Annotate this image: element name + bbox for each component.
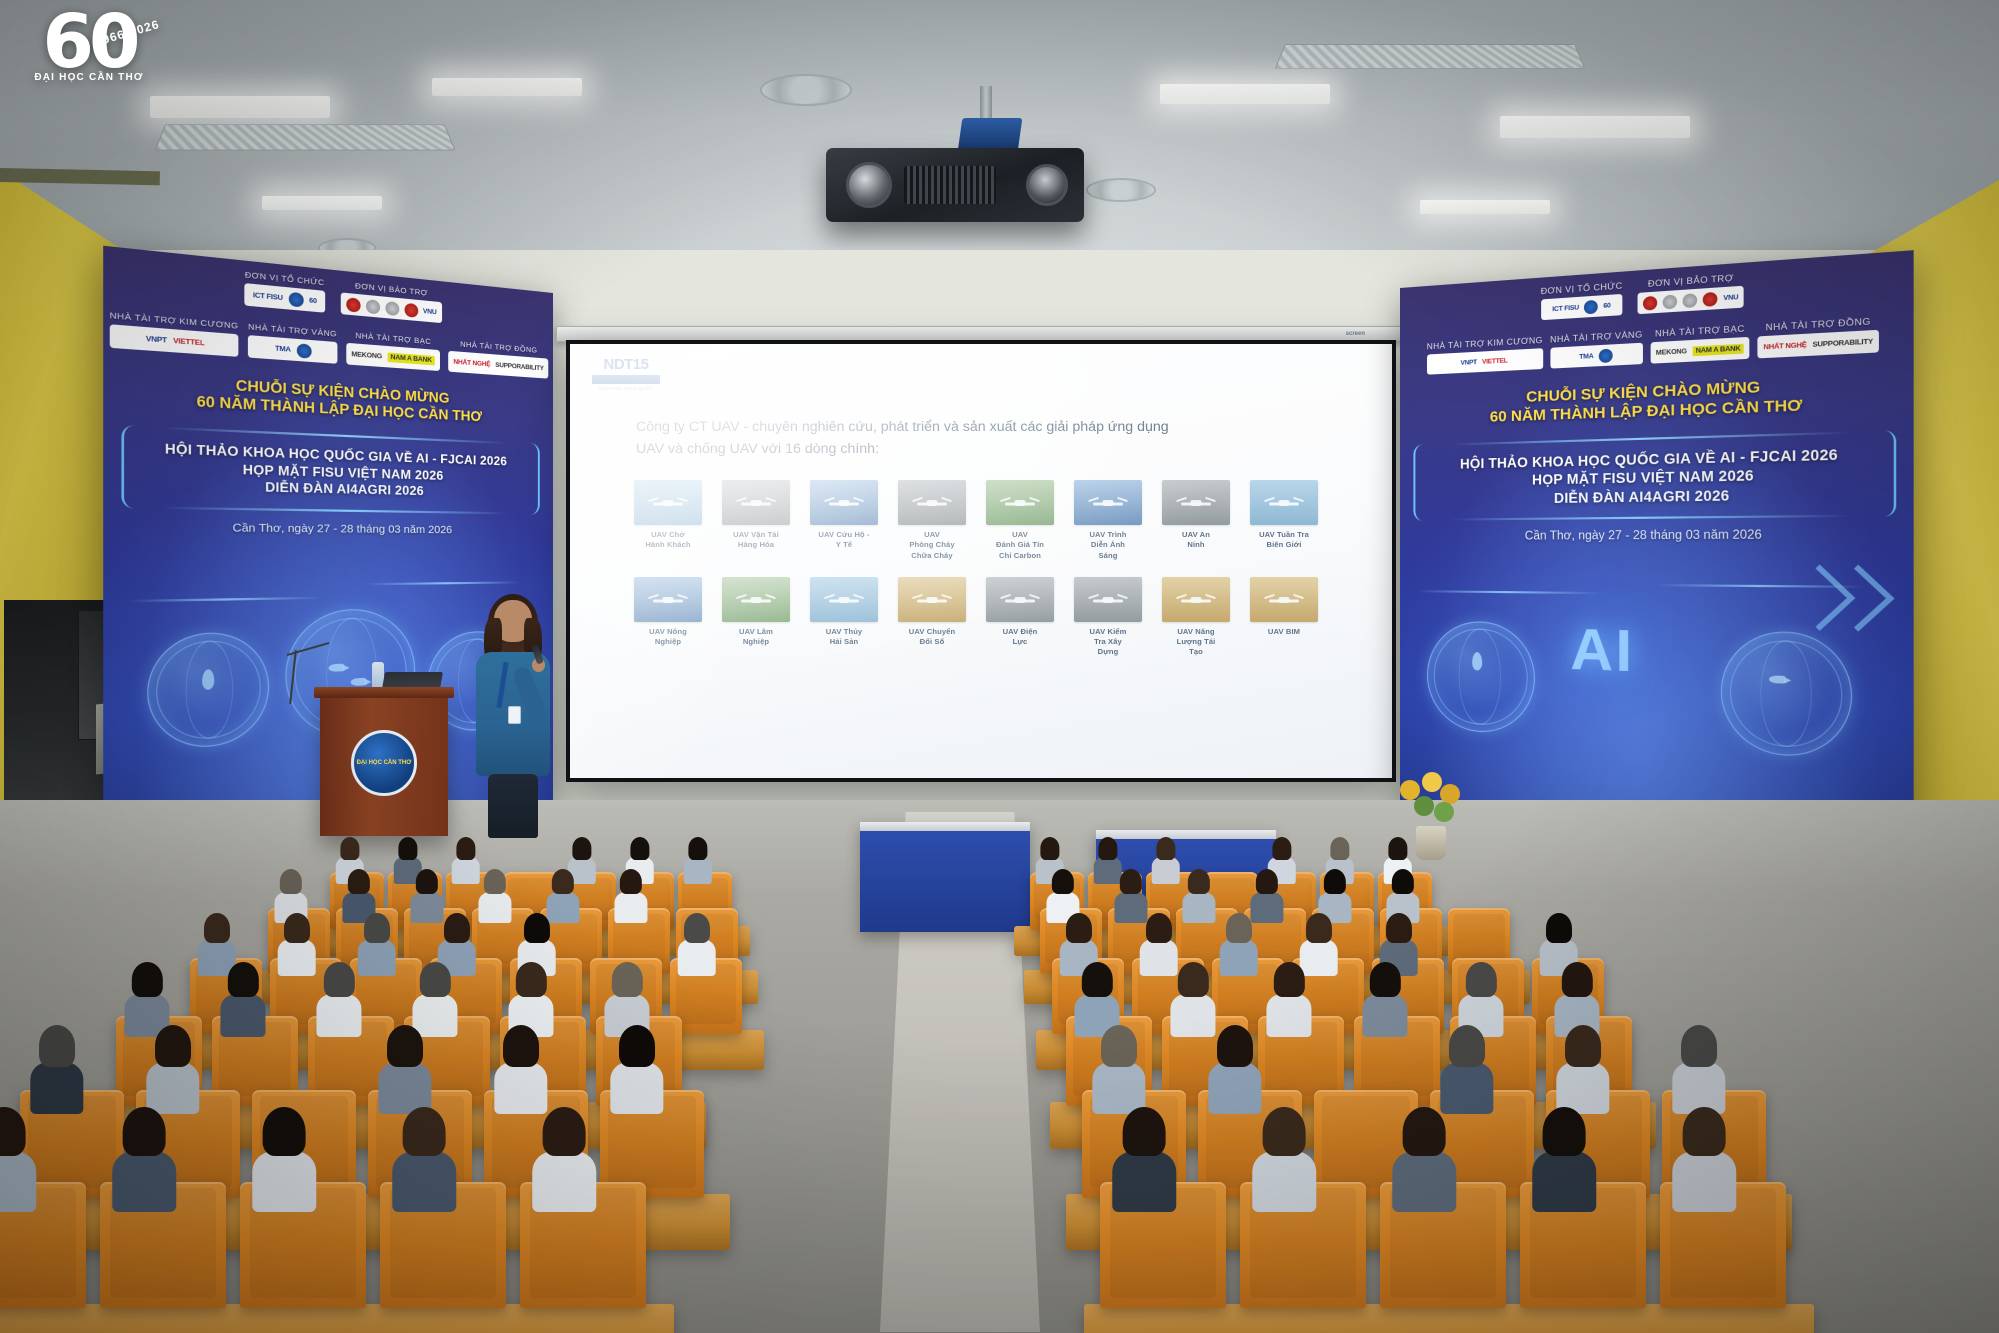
audience-hair <box>1330 837 1349 859</box>
uav-category-cell: UAV Cứu Hộ -Y Tế <box>802 480 886 551</box>
audience-hair <box>398 837 417 859</box>
uav-label-line: UAV Kiểm <box>1066 627 1150 637</box>
uav-label-line: Hàng Hóa <box>714 540 798 550</box>
fish-icon <box>1769 675 1785 683</box>
uav-label-line: Chỉ Carbon <box>978 551 1062 561</box>
audience-member <box>1219 911 1258 978</box>
uav-thumbnail <box>1250 480 1318 525</box>
uav-category-label: UAVĐánh Giá TínChỉ Carbon <box>978 530 1062 561</box>
audience-member <box>614 867 647 925</box>
audience-member <box>113 1104 176 1214</box>
logo-institution-name: ĐẠI HỌC CẦN THƠ <box>16 72 162 83</box>
uav-label-line: UAV Nông <box>626 627 710 637</box>
logo-vnu: VNU <box>1723 293 1738 302</box>
projector-secondary-lens-icon <box>1026 164 1068 206</box>
audience-member <box>1533 1104 1596 1214</box>
uav-category-cell: UAVĐánh Giá TínChỉ Carbon <box>978 480 1062 561</box>
uav-row-1: UAV ChởHành KháchUAV Vận TảiHàng HóaUAV … <box>626 480 1356 561</box>
logo-vnpt: VNPT <box>1461 358 1477 366</box>
audience-hair <box>1120 869 1142 895</box>
chevron-decor-icon <box>1822 565 1894 632</box>
audience-shoulders <box>1113 1151 1176 1212</box>
audience-hair <box>324 962 354 997</box>
audience-hair <box>403 1107 446 1157</box>
bronze-sponsor-group: NHÀ TÀI TRỢ ĐỒNG NHẤT NGHỆ SUPPORABILITY <box>1758 315 1880 358</box>
audience-hair <box>1145 913 1171 943</box>
decor-line <box>129 597 322 602</box>
drone-body-icon <box>751 597 762 603</box>
drone-body-icon <box>663 597 674 603</box>
logo-ict-fisu: ICT FISU <box>1552 304 1579 313</box>
podium-top-surface <box>314 687 454 698</box>
decor-line <box>366 581 520 585</box>
audience-hair <box>1466 962 1496 997</box>
logo-vinasa-icon <box>1703 291 1718 306</box>
drone-body-icon <box>1103 597 1114 603</box>
logo-nhatnghe: NHẤT NGHỆ <box>1763 341 1806 351</box>
ceiling-round-vent <box>1086 178 1156 202</box>
logo-supporability: SUPPORABILITY <box>495 361 543 372</box>
slide-lead-text: Công ty CT UAV - chuyên nghiên cứu, phát… <box>636 416 1338 460</box>
silver-logos: MEKONG NAM A BANK <box>1650 337 1749 364</box>
audience-hair <box>688 837 707 859</box>
audience-member <box>1092 1023 1145 1116</box>
audience-hair <box>484 869 506 895</box>
uav-category-label: UAV Vận TảiHàng Hóa <box>714 530 798 551</box>
organizer-group: ĐƠN VỊ TỔ CHỨC ICT FISU 60 <box>1541 280 1623 320</box>
uav-thumbnail <box>810 480 878 525</box>
logo-nhatnghe: NHẤT NGHỆ <box>453 358 490 368</box>
audience-shoulders <box>1151 857 1180 884</box>
ceiling-light-panel <box>1500 116 1690 138</box>
audience-hair <box>1385 913 1411 943</box>
ceiling-round-vent <box>760 74 852 106</box>
projection-screen-frame: NDT15 NGÀY HỘI TOÀN QUỐC Công ty CT UAV … <box>566 340 1396 782</box>
audience-member <box>1267 960 1312 1038</box>
audience-member <box>683 836 712 886</box>
audience-shoulders <box>610 1062 663 1113</box>
logo-vnu: VNU <box>423 307 437 316</box>
audience-hair <box>620 869 642 895</box>
uav-category-cell: UAV LâmNghiệp <box>714 577 798 648</box>
flower-bloom <box>1434 802 1454 822</box>
uav-label-line: UAV Tuần Tra <box>1242 530 1326 540</box>
uav-label-line: Nghiệp <box>714 637 798 647</box>
gold-label: NHÀ TÀI TRỢ VÀNG <box>1550 329 1643 345</box>
globe-graphic <box>1427 621 1535 735</box>
gold-sponsor-group: NHÀ TÀI TRỢ VÀNG TMA <box>1550 329 1643 369</box>
audience-hair <box>543 1107 586 1157</box>
uav-label-line: UAV Vận Tải <box>714 530 798 540</box>
audience-shoulders <box>451 857 480 884</box>
ceiling-light-panel <box>150 96 330 118</box>
drone-body-icon <box>927 500 938 506</box>
uav-row-2: UAV NôngNghiệpUAV LâmNghiệpUAV ThủyHải S… <box>626 577 1356 658</box>
audience-hair <box>1562 962 1592 997</box>
audience-hair <box>348 869 370 895</box>
audience-shoulders <box>614 892 647 924</box>
audience-hair <box>456 837 475 859</box>
audience-shoulders <box>1219 939 1258 976</box>
gold-sponsor-group: NHÀ TÀI TRỢ VÀNG TMA <box>248 322 337 364</box>
logo-vnpt: VNPT <box>146 335 167 345</box>
audience-hair <box>1274 962 1304 997</box>
drone-body-icon <box>1191 500 1202 506</box>
drone-body-icon <box>1015 597 1026 603</box>
logo-namabank: NAM A BANK <box>387 352 435 365</box>
uav-thumbnail <box>1250 577 1318 622</box>
logo-org-icon <box>1663 294 1677 309</box>
uav-label-line: Đổi Số <box>890 637 974 647</box>
event-banner-right: ĐƠN VỊ TỔ CHỨC ICT FISU 60 ĐƠN VỊ BẢO TR… <box>1400 250 1914 856</box>
audience-member <box>1113 1104 1176 1214</box>
conference-date: Cần Thơ, ngày 27 - 28 tháng 03 năm 2026 <box>1400 528 1914 543</box>
vase <box>1416 826 1446 860</box>
audience-shoulders <box>0 1151 36 1212</box>
leaf-icon <box>1472 652 1482 671</box>
audience-member <box>378 1023 431 1116</box>
logo-tma: TMA <box>1579 352 1593 360</box>
audience-shoulders <box>1363 994 1408 1037</box>
patron-group: ĐƠN VỊ BẢO TRỢ VNU <box>340 279 441 323</box>
audience-member <box>533 1104 596 1214</box>
drone-body-icon <box>839 597 850 603</box>
uav-thumbnail <box>986 480 1054 525</box>
audience-hair <box>1543 1107 1586 1157</box>
uav-category-label: UAV ChuyểnĐổi Số <box>890 627 974 648</box>
decor-line <box>1656 584 1864 588</box>
uav-category-cell: UAV BIM <box>1242 577 1326 637</box>
logo-org-icon <box>365 299 379 314</box>
audience-hair <box>1388 837 1407 859</box>
audience-hair <box>516 962 546 997</box>
audience-member <box>30 1023 83 1116</box>
audience-hair <box>1449 1025 1485 1067</box>
uav-category-cell: UAV ChởHành Khách <box>626 480 710 551</box>
audience-hair <box>1178 962 1208 997</box>
audience-hair <box>1156 837 1175 859</box>
diamond-logos: VNPT VIETTEL <box>1427 348 1543 375</box>
uav-label-line: Hải Sản <box>802 637 886 647</box>
audience-hair <box>1263 1107 1306 1157</box>
ceiling-light-panel <box>262 196 382 210</box>
logo-assoc-icon <box>385 300 399 315</box>
audience-hair <box>228 962 258 997</box>
audience-hair <box>1082 962 1112 997</box>
uav-label-line: Hành Khách <box>626 540 710 550</box>
uav-category-label: UAV ĐiệnLực <box>978 627 1062 648</box>
audience-shoulders <box>683 857 712 884</box>
presenter-legs <box>488 774 538 838</box>
audience-shoulders <box>1393 1151 1456 1212</box>
audience-shoulders <box>1182 892 1215 924</box>
audience-hair <box>416 869 438 895</box>
uav-category-cell: UAV TrìnhDiễn ÁnhSáng <box>1066 480 1150 561</box>
drone-body-icon <box>751 500 762 506</box>
organizer-logos: ICT FISU 60 <box>1541 294 1623 320</box>
audience-member <box>610 1023 663 1116</box>
logo-number-60: 60 <box>16 8 162 76</box>
logo-60: 60 <box>1603 302 1610 310</box>
uav-thumbnail <box>722 577 790 622</box>
audience-hair <box>1098 837 1117 859</box>
logo-ctu-icon <box>289 291 304 307</box>
audience-member <box>357 911 396 978</box>
bronze-logos: NHẤT NGHỆ SUPPORABILITY <box>448 351 548 379</box>
audience-hair <box>552 869 574 895</box>
audience-hair <box>1101 1025 1137 1067</box>
audience-member <box>1440 1023 1493 1116</box>
uav-label-line: UAV Năng <box>1154 627 1238 637</box>
audience-hair <box>1040 837 1059 859</box>
audience-hair <box>280 869 302 895</box>
uav-category-label: UAV ChởHành Khách <box>626 530 710 551</box>
gold-logos: TMA <box>248 335 337 364</box>
chevron-decor-icon <box>1785 565 1856 631</box>
audience-member <box>1556 1023 1609 1116</box>
ndt15-logo: NDT15 NGÀY HỘI TOÀN QUỐC <box>592 356 660 391</box>
audience-hair <box>283 913 309 943</box>
audience-shoulders <box>393 1151 456 1212</box>
projection-screen: NDT15 NGÀY HỘI TOÀN QUỐC Công ty CT UAV … <box>570 344 1392 778</box>
organizer-group: ĐƠN VỊ TỔ CHỨC ICT FISU 60 <box>245 270 325 313</box>
decor-line <box>1417 590 1600 594</box>
uav-category-label: UAV NôngNghiệp <box>626 627 710 648</box>
drone-body-icon <box>927 597 938 603</box>
uav-label-line: UAV <box>890 530 974 540</box>
presenter <box>470 600 556 836</box>
audience-member <box>1151 836 1180 886</box>
uav-label-line: Phòng Cháy <box>890 540 974 550</box>
ndt15-subtitle: NGÀY HỘI TOÀN QUỐC <box>592 386 660 391</box>
audience-member <box>1363 960 1408 1038</box>
logo-60: 60 <box>309 296 317 304</box>
logo-usaid-icon <box>296 343 311 358</box>
audience-hair <box>630 837 649 859</box>
uav-label-line: Nghiệp <box>626 637 710 647</box>
flower-bloom <box>1440 784 1460 804</box>
audience-hair <box>1256 869 1278 895</box>
audience-shoulders <box>1673 1151 1736 1212</box>
head-table-left <box>860 822 1030 932</box>
audience-shoulders <box>221 994 266 1037</box>
uav-label-line: Lượng Tái <box>1154 637 1238 647</box>
audience-hair <box>572 837 591 859</box>
ceiling-air-vent <box>1275 44 1586 69</box>
audience-hair <box>1392 869 1414 895</box>
banner-headline: CHUỖI SỰ KIỆN CHÀO MỪNG 60 NĂM THÀNH LẬP… <box>103 369 553 430</box>
uav-label-line: UAV Lâm <box>714 627 798 637</box>
ndt15-bar <box>592 375 660 384</box>
logo-ctu-icon <box>1584 299 1598 314</box>
uav-category-grid: UAV ChởHành KháchUAV Vận TảiHàng HóaUAV … <box>626 480 1356 658</box>
uav-category-cell: UAV Tuần TraBiên Giới <box>1242 480 1326 551</box>
uav-label-line: Ninh <box>1154 540 1238 550</box>
globe-graphic <box>1721 630 1852 759</box>
audience-member <box>221 960 266 1038</box>
uav-category-label: UAV TrìnhDiễn ÁnhSáng <box>1066 530 1150 561</box>
audience-member <box>277 911 316 978</box>
uav-category-label: UAV BIM <box>1242 627 1326 637</box>
uav-label-line: UAV <box>978 530 1062 540</box>
audience-shoulders <box>253 1151 316 1212</box>
uav-thumbnail <box>1162 577 1230 622</box>
diamond-sponsor-group: NHÀ TÀI TRỢ KIM CƯƠNG VNPT VIETTEL <box>1427 335 1543 375</box>
drone-body-icon <box>1015 500 1026 506</box>
audience-hair <box>387 1025 423 1067</box>
flower-bloom <box>1422 772 1442 792</box>
uav-label-line: Đánh Giá Tín <box>978 540 1062 550</box>
fish-icon <box>329 664 345 672</box>
uav-category-cell: UAV ĐiệnLực <box>978 577 1062 648</box>
audience-shoulders <box>277 939 316 976</box>
ceiling-projector <box>826 148 1084 222</box>
audience-hair <box>1052 869 1074 895</box>
audience-hair <box>363 913 389 943</box>
uav-thumbnail <box>1074 577 1142 622</box>
housing-brand: screen <box>1346 331 1365 337</box>
audience-hair <box>263 1107 306 1157</box>
slide-lead-line-1: Công ty CT UAV - chuyên nghiên cứu, phát… <box>636 416 1338 438</box>
audience-shoulders <box>357 939 396 976</box>
projector-lens-icon <box>846 162 892 208</box>
audience-member <box>478 867 511 925</box>
audience-hair <box>0 1107 26 1157</box>
audience-member <box>253 1104 316 1214</box>
presenter-badge <box>508 706 521 724</box>
audience-hair <box>619 1025 655 1067</box>
audience-hair <box>1545 913 1571 943</box>
audience-shoulders <box>1253 1151 1316 1212</box>
audience-hair <box>523 913 549 943</box>
audience-hair <box>340 837 359 859</box>
audience-shoulders <box>533 1151 596 1212</box>
uav-category-label: UAV LâmNghiệp <box>714 627 798 648</box>
uav-label-line: UAV Chuyển <box>890 627 974 637</box>
audience-member <box>393 1104 456 1214</box>
audience-hair <box>1683 1107 1726 1157</box>
fish-icon <box>351 678 366 686</box>
uav-thumbnail <box>898 480 966 525</box>
ceiling-light-panel <box>1420 200 1550 214</box>
audience-hair <box>123 1107 166 1157</box>
ctu-emblem: ĐẠI HỌC CẦN THƠ <box>351 730 417 796</box>
audience-member <box>1673 1104 1736 1214</box>
uav-label-line: Y Tế <box>802 540 886 550</box>
audience-hair <box>1272 837 1291 859</box>
uav-label-line: Chữa Cháy <box>890 551 974 561</box>
gold-logos: TMA <box>1550 343 1643 369</box>
conference-hall-photo: ĐƠN VỊ TỔ CHỨC ICT FISU 60 ĐƠN VỊ BẢO TR… <box>0 0 1999 1333</box>
organizer-logos: ICT FISU 60 <box>245 283 325 313</box>
flower-bloom <box>1414 796 1434 816</box>
uav-label-line: UAV Cứu Hộ - <box>802 530 886 540</box>
silver-sponsor-group: NHÀ TÀI TRỢ BẠC MEKONG NAM A BANK <box>1650 323 1749 364</box>
uav-thumbnail <box>810 577 878 622</box>
uav-thumbnail <box>634 577 702 622</box>
leaf-icon <box>202 669 214 690</box>
audience-member <box>1253 1104 1316 1214</box>
audience-hair <box>1188 869 1210 895</box>
uav-category-cell: UAV KiểmTra XâyDựng <box>1066 577 1150 658</box>
audience-hair <box>1305 913 1331 943</box>
audience-hair <box>612 962 642 997</box>
logo-mekong: MEKONG <box>1656 347 1687 356</box>
uav-label-line: UAV Thủy <box>802 627 886 637</box>
uav-thumbnail <box>1162 480 1230 525</box>
globe-graphic <box>147 631 269 751</box>
audience-hair <box>503 1025 539 1067</box>
drone-body-icon <box>1279 500 1290 506</box>
audience-hair <box>132 962 162 997</box>
uav-label-line: Tạo <box>1154 647 1238 657</box>
audience-hair <box>203 913 229 943</box>
audience-hair <box>1225 913 1251 943</box>
uav-label-line: Sáng <box>1066 551 1150 561</box>
audience-shoulders <box>113 1151 176 1212</box>
audience-hair <box>1065 913 1091 943</box>
logo-mekong: MEKONG <box>351 350 381 360</box>
seating-desk-row <box>0 1304 674 1333</box>
audience-hair <box>420 962 450 997</box>
silver-sponsor-group: NHÀ TÀI TRỢ BẠC MEKONG NAM A BANK <box>346 330 440 371</box>
audience-hair <box>1123 1107 1166 1157</box>
audience-shoulders <box>30 1062 83 1113</box>
uav-label-line: UAV BIM <box>1242 627 1326 637</box>
audience-member <box>317 960 362 1038</box>
uav-label-line: UAV Chở <box>626 530 710 540</box>
audience-member <box>494 1023 547 1116</box>
bronze-logos: NHẤT NGHỆ SUPPORABILITY <box>1758 330 1880 359</box>
slide-lead-line-2: UAV và chống UAV với 16 dòng chính: <box>636 438 1338 460</box>
logo-viettel: VIETTEL <box>173 337 204 347</box>
uav-label-line: Dựng <box>1066 647 1150 657</box>
drone-body-icon <box>663 500 674 506</box>
table-top <box>1096 830 1276 839</box>
uav-category-cell: UAV ChuyểnĐổi Số <box>890 577 974 648</box>
uav-thumbnail <box>634 480 702 525</box>
audience-member <box>0 1104 36 1214</box>
ceiling-air-vent <box>155 124 456 150</box>
audience-hair <box>1324 869 1346 895</box>
logo-tma: TMA <box>275 344 291 353</box>
audience-hair <box>1370 962 1400 997</box>
table-top <box>860 822 1030 831</box>
logo-gov-icon <box>1643 295 1657 310</box>
uav-label-line: Tra Xây <box>1066 637 1150 647</box>
seating-desk-row <box>1084 1304 1814 1333</box>
patron-logos: VNU <box>1638 286 1744 315</box>
uav-label-line: Biên Giới <box>1242 540 1326 550</box>
uav-category-cell: UAV NôngNghiệp <box>626 577 710 648</box>
conference-date: Cần Thơ, ngày 27 - 28 tháng 03 năm 2026 <box>103 520 553 537</box>
audience-member <box>451 836 480 886</box>
logo-gov-icon <box>346 297 360 312</box>
logo-supporability: SUPPORABILITY <box>1813 337 1873 348</box>
patron-group: ĐƠN VỊ BẢO TRỢ VNU <box>1638 271 1744 314</box>
uav-thumbnail <box>898 577 966 622</box>
ceiling-light-panel <box>1160 84 1330 104</box>
logo-usaid-icon <box>1599 348 1613 362</box>
uav-category-label: UAV ThủyHải Sản <box>802 627 886 648</box>
speaker-podium: ĐẠI HỌC CẦN THƠ <box>320 696 448 836</box>
uav-category-label: UAV KiểmTra XâyDựng <box>1066 627 1150 658</box>
uav-category-cell: UAV AnNinh <box>1154 480 1238 551</box>
logo-assoc-icon <box>1683 293 1698 308</box>
uav-thumbnail <box>722 480 790 525</box>
ceiling-light-panel <box>432 78 582 96</box>
logo-vinasa-icon <box>404 302 418 317</box>
